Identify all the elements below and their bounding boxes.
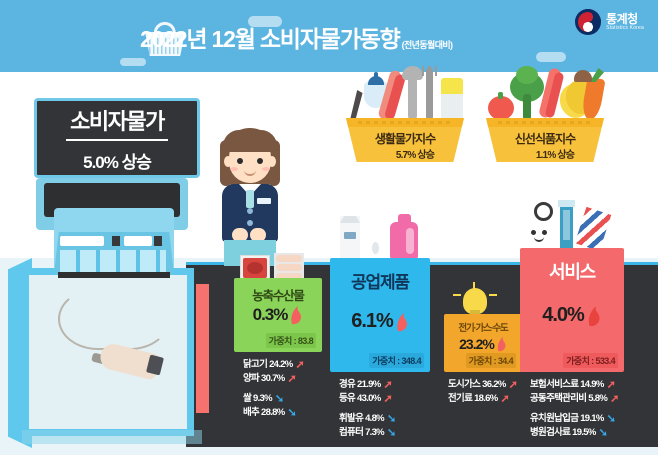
- register-receipt-slot: [58, 272, 170, 278]
- category-weight: 가중치 : 533.4: [563, 353, 618, 368]
- category-name: 농축수산물: [234, 285, 322, 304]
- item-value: 4.8%: [365, 412, 384, 426]
- category-column-서비스: 서비스 4.0% 가중치 : 533.4: [520, 248, 624, 372]
- arrow-up-icon: [395, 312, 409, 332]
- list-item: 유치원납입금 19.1%➘: [530, 412, 619, 426]
- category-items-서비스: 보험서비스료 14.9%➚ 공동주택관리비 5.8%➚ 유치원납입금 19.1%…: [530, 378, 619, 440]
- cashier-character: [210, 128, 290, 266]
- arrow-down-icon: ➘: [287, 408, 296, 419]
- title-subnote: (전년동월대비): [402, 38, 453, 54]
- item-value: 21.9%: [357, 378, 380, 392]
- item-label: 등유: [339, 392, 355, 406]
- list-item: 병원검사료 19.5%➘: [530, 426, 619, 440]
- kpi-title: 소비자물가: [66, 104, 168, 141]
- arrow-up-icon: ➚: [607, 380, 616, 391]
- item-label: 유치원납입금: [530, 412, 578, 426]
- category-name: 서비스: [520, 258, 624, 284]
- item-value: 18.6%: [474, 392, 497, 406]
- kpi-value: 5.0% 상승: [83, 148, 151, 173]
- item-label: 닭고기: [243, 358, 267, 372]
- list-item: 공동주택관리비 5.8%➚: [530, 392, 619, 406]
- category-items-전기가스수도: 도시가스 36.2%➚ 전기료 18.6%➚: [448, 378, 517, 406]
- arrow-up-icon: ➚: [383, 380, 392, 391]
- category-value-row: 6.1%: [330, 310, 430, 333]
- arrow-up-icon: ➚: [509, 380, 518, 391]
- item-label: 보험서비스료: [530, 378, 578, 392]
- list-item: 도시가스 36.2%➚: [448, 378, 517, 392]
- category-column-전기가스수도: 전기·가스·수도 23.2% 가중치 : 34.4: [444, 314, 522, 372]
- category-value: 4.0%: [542, 304, 584, 327]
- list-item: 경유 21.9%➚: [339, 378, 395, 392]
- list-item: 쌀 9.3%➘: [243, 392, 304, 406]
- list-item: 배추 28.8%➘: [243, 406, 304, 420]
- item-value: 19.5%: [572, 426, 595, 440]
- headline-kpi-panel: 소비자물가 5.0% 상승: [34, 98, 200, 178]
- index-basket-fresh-food: 신선식품지수 1.1% 상승: [486, 118, 608, 162]
- category-name: 공업제품: [330, 268, 430, 293]
- item-label: 컴퓨터: [339, 426, 363, 440]
- arrow-up-icon: [289, 305, 303, 325]
- register-keypad: [60, 250, 166, 272]
- basket-label: 생활물가지수: [346, 130, 464, 147]
- scanner-cord: [58, 288, 170, 350]
- register-display-strip: [60, 236, 104, 246]
- statistics-korea-logo: 통계청 Statistics Korea: [575, 9, 644, 35]
- title-main: 2022년 12월 소비자물가동향: [140, 20, 400, 54]
- counter-shadow: [22, 430, 202, 444]
- category-weight: 가중치 : 34.4: [466, 353, 516, 368]
- item-label: 양파: [243, 372, 259, 386]
- item-label: 경유: [339, 378, 355, 392]
- list-item: 컴퓨터 7.3%➘: [339, 426, 395, 440]
- arrow-down-icon: ➘: [387, 414, 396, 425]
- arrow-down-icon: ➘: [387, 428, 396, 439]
- list-item: 양파 30.7%➚: [243, 372, 304, 386]
- category-items-농축수산물: 닭고기 24.2%➚ 양파 30.7%➚ 쌀 9.3%➘ 배추 28.8%➘: [243, 358, 304, 420]
- category-items-공업제품: 경유 21.9%➚ 등유 43.0%➚ 휘발유 4.8%➘ 컴퓨터 7.3%➘: [339, 378, 395, 440]
- item-value: 5.8%: [588, 392, 607, 406]
- cloud-decoration: [120, 58, 146, 66]
- arrow-up-icon: ➚: [501, 394, 510, 405]
- arrow-down-icon: ➘: [275, 394, 284, 405]
- infographic-canvas: 2022년 12월 소비자물가동향 (전년동월대비) 통계청 Statistic…: [0, 0, 658, 455]
- category-value-row: 0.3%: [234, 305, 322, 325]
- category-column-공업제품: 공업제품 6.1% 가중치 : 348.4: [330, 258, 430, 372]
- basket-label: 신선식품지수: [486, 130, 604, 147]
- index-basket-household: 생활물가지수 5.7% 상승: [346, 118, 468, 162]
- logo-label-kr: 통계청: [606, 13, 644, 26]
- register-display-strip: [154, 236, 162, 246]
- arrow-up-icon: ➚: [383, 394, 392, 405]
- item-label: 쌀: [243, 392, 251, 406]
- category-value-row: 23.2%: [444, 336, 522, 352]
- list-item: 보험서비스료 14.9%➚: [530, 378, 619, 392]
- item-label: 휘발유: [339, 412, 363, 426]
- arrow-up-icon: ➚: [287, 374, 296, 385]
- item-value: 19.1%: [580, 412, 603, 426]
- list-item: 닭고기 24.2%➚: [243, 358, 304, 372]
- list-item: 전기료 18.6%➚: [448, 392, 517, 406]
- item-value: 43.0%: [357, 392, 380, 406]
- basket-shape: 신선식품지수 1.1% 상승: [486, 118, 604, 162]
- list-item: 등유 43.0%➚: [339, 392, 395, 406]
- category-value: 6.1%: [351, 310, 393, 333]
- cloud-decoration: [536, 52, 566, 62]
- item-value: 9.3%: [253, 392, 272, 406]
- category-weight: 가중치 : 348.4: [369, 353, 424, 368]
- meat-and-eggs-icon: [240, 253, 312, 279]
- arrow-up-icon: [586, 305, 602, 327]
- arrow-down-icon: ➘: [599, 428, 608, 439]
- category-value-row: 4.0%: [520, 304, 624, 327]
- milk-tissue-detergent-icon: [336, 212, 424, 262]
- basket-value: 5.7% 상승: [346, 146, 464, 161]
- item-value: 7.3%: [365, 426, 384, 440]
- list-item: 휘발유 4.8%➘: [339, 412, 395, 426]
- fresh-food-basket-icon: [486, 64, 604, 122]
- register-display-strip: [124, 236, 152, 246]
- item-value: 14.9%: [580, 378, 603, 392]
- page-title: 2022년 12월 소비자물가동향 (전년동월대비): [140, 20, 452, 54]
- category-name: 전기·가스·수도: [444, 320, 522, 334]
- divider-bar: [196, 284, 209, 413]
- category-value: 23.2%: [459, 336, 494, 352]
- arrow-up-icon: [496, 336, 507, 352]
- item-value: 30.7%: [261, 372, 284, 386]
- basket-shape: 생활물가지수 5.7% 상승: [346, 118, 464, 162]
- category-column-농축수산물: 농축수산물 0.3% 가중치 : 83.8: [234, 278, 322, 352]
- item-label: 도시가스: [448, 378, 480, 392]
- dental-syringe-barber-icon: [516, 200, 608, 250]
- category-weight: 가중치 : 83.8: [266, 333, 316, 348]
- item-value: 36.2%: [482, 378, 505, 392]
- arrow-up-icon: ➚: [296, 360, 305, 371]
- item-label: 공동주택관리비: [530, 392, 586, 406]
- item-label: 병원검사료: [530, 426, 570, 440]
- register-display-strip: [112, 236, 120, 246]
- item-value: 24.2%: [269, 358, 292, 372]
- basket-value: 1.1% 상승: [486, 146, 604, 161]
- item-label: 배추: [243, 406, 259, 420]
- category-value: 0.3%: [253, 305, 288, 325]
- item-label: 전기료: [448, 392, 472, 406]
- arrow-down-icon: ➘: [607, 414, 616, 425]
- logo-label-en: Statistics Korea: [606, 26, 644, 31]
- taegeuk-icon: [575, 9, 601, 35]
- item-value: 28.8%: [261, 406, 284, 420]
- arrow-up-icon: ➚: [610, 394, 619, 405]
- household-goods-basket-icon: [346, 64, 464, 122]
